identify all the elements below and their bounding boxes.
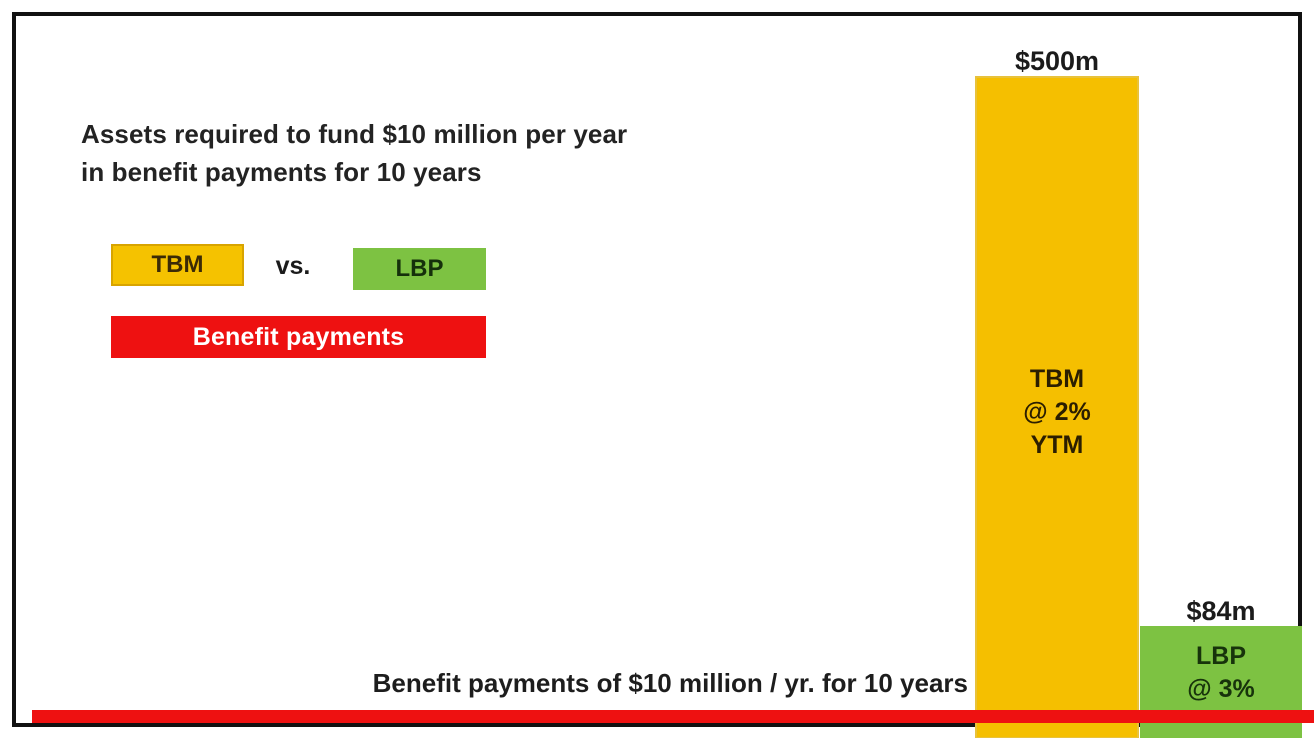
legend-chip-benefit-payments: Benefit payments [111,316,486,358]
slide-frame: Assets required to fund $10 million per … [12,12,1302,727]
legend-vs-label: vs. [263,246,323,286]
legend-row: TBM vs. LBP [111,244,531,290]
bar-tbm-label-line-1: TBM [977,363,1137,396]
chart-title-line-2: in benefit payments for 10 years [81,154,881,192]
chart-title-line-1: Assets required to fund $10 million per … [81,116,881,154]
value-label-tbm: $500m [975,46,1139,77]
bar-tbm: TBM @ 2% YTM [975,76,1139,738]
benefit-payments-caption: Benefit payments of $10 million / yr. fo… [158,668,968,699]
bar-tbm-label: TBM @ 2% YTM [977,363,1137,462]
bar-lbp-label: LBP @ 3% [1140,640,1302,706]
bar-lbp-label-line-1: LBP [1140,640,1302,673]
value-label-lbp: $84m [1140,596,1302,627]
bar-tbm-label-line-3: YTM [977,429,1137,462]
bar-tbm-label-line-2: @ 2% [977,396,1137,429]
chart-title: Assets required to fund $10 million per … [81,116,881,191]
legend-chip-tbm: TBM [111,244,244,286]
slide-canvas: Assets required to fund $10 million per … [0,0,1316,738]
benefit-payments-reference-line [32,710,1314,723]
bar-lbp-label-line-2: @ 3% [1140,673,1302,706]
chart-plot-area: Assets required to fund $10 million per … [32,32,1314,738]
legend-chip-lbp: LBP [353,248,486,290]
